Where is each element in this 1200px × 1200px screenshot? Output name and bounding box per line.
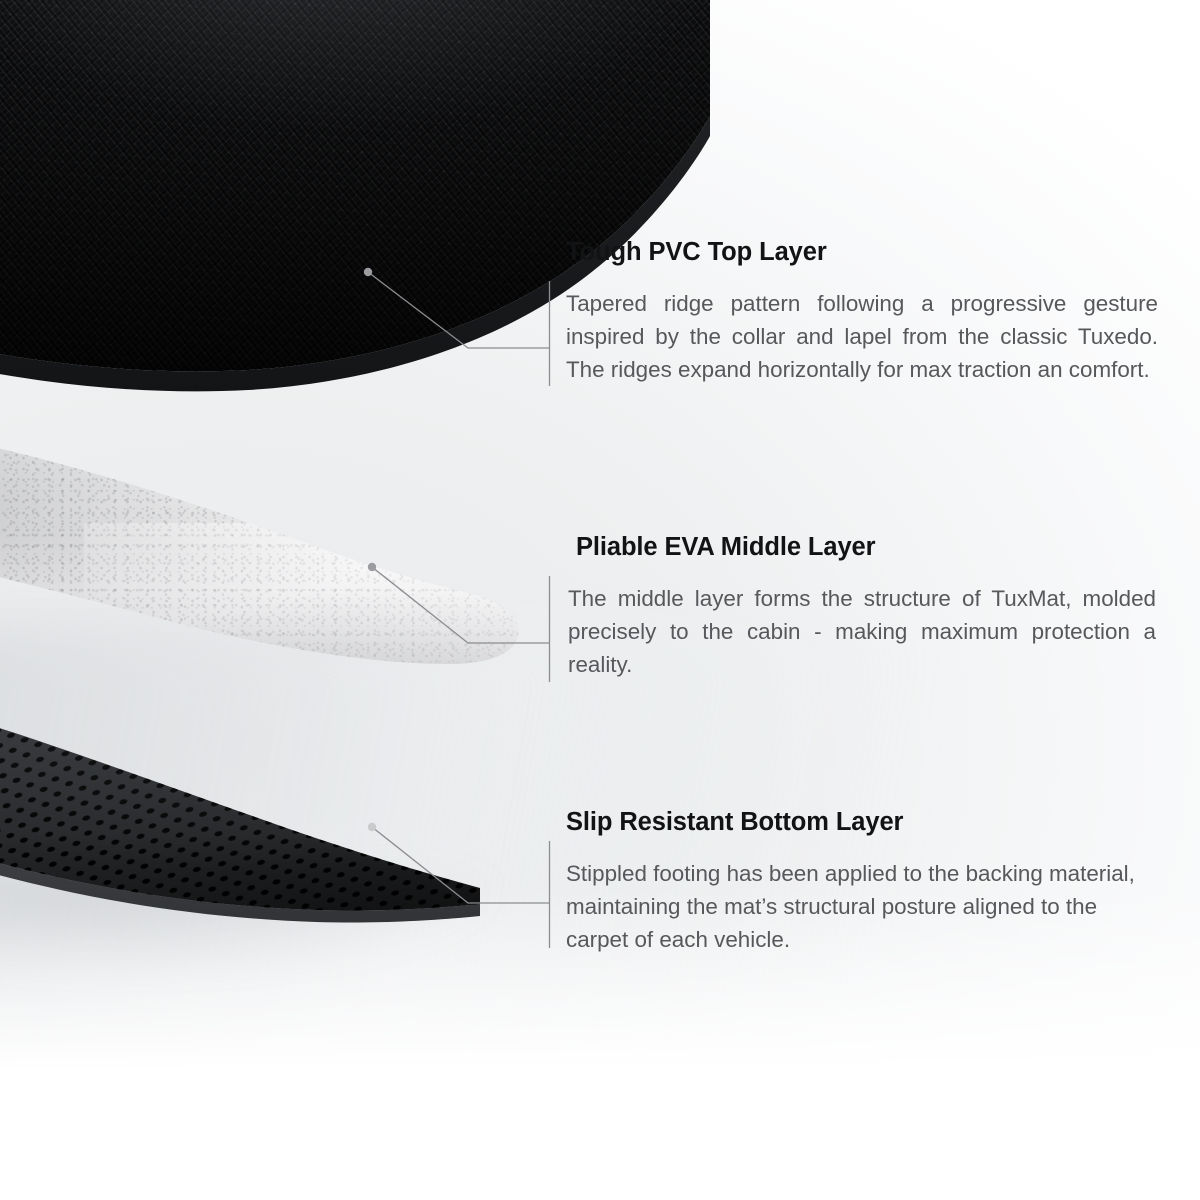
callout-title-bottom-layer: Slip Resistant Bottom Layer (566, 808, 1166, 838)
callout-title-top-layer: Tough PVC Top Layer (566, 238, 1166, 268)
callout-title-middle-layer: Pliable EVA Middle Layer (576, 533, 1176, 563)
product-layer-diagram: Tough PVC Top Layer Tapered ridge patter… (0, 0, 1200, 1200)
callout-body-top-layer: Tapered ridge pattern following a progre… (566, 287, 1158, 386)
callout-body-middle-layer: The middle layer forms the structure of … (568, 582, 1156, 681)
callout-tough-pvc-top-layer: Tough PVC Top Layer Tapered ridge patter… (566, 238, 1166, 386)
callout-pliable-eva-middle-layer: Pliable EVA Middle Layer The middle laye… (576, 533, 1176, 681)
callout-slip-resistant-bottom-layer: Slip Resistant Bottom Layer Stippled foo… (566, 808, 1166, 956)
callout-body-bottom-layer: Stippled footing has been applied to the… (566, 857, 1162, 956)
